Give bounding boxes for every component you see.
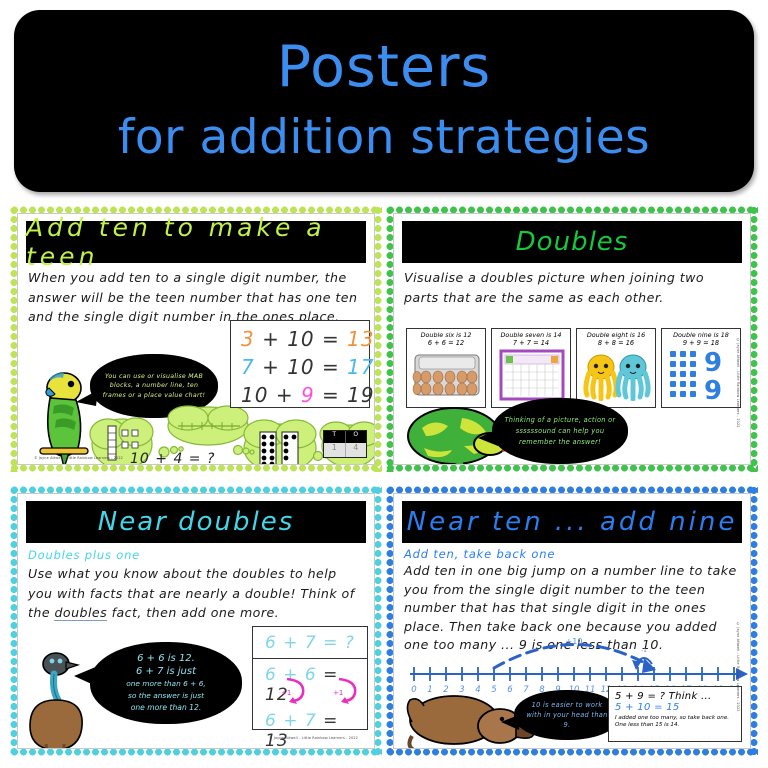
jump-arc-label: +10 (566, 637, 583, 646)
svg-text:+1: +1 (281, 689, 291, 697)
doubles-card[interactable]: Double eight is 16 8 + 8 = 16 (576, 328, 656, 408)
card-caption: Double seven is 14 (494, 331, 568, 339)
eq1-addend: 3 (241, 327, 255, 351)
card-equation: 6 + 6 = 12 (409, 339, 483, 347)
poster-title: Near ten ... add nine (407, 507, 738, 537)
example-line-3: I added one too many, so take back one. (615, 715, 741, 721)
eq2-addend: 7 (241, 355, 255, 379)
equation-row-2: 7 + 10 = 17 (241, 355, 369, 379)
poster-title-bar: Doubles (402, 221, 742, 263)
card-equation: 9 + 9 = 18 (664, 339, 738, 347)
poster-doubles[interactable]: Doubles Visualise a doubles picture when… (386, 206, 758, 472)
card-equation: 8 + 8 = 16 (579, 339, 653, 347)
copyright-notice: © Jayne Attwell - Little Rainbow Learner… (736, 622, 740, 712)
calendar-icon (494, 347, 570, 401)
eq1-result: 13 (347, 327, 374, 351)
doubles-card[interactable]: Double seven is 14 7 + 7 = 14 (491, 328, 571, 408)
svg-text:9: 9 (704, 376, 722, 401)
bubble-line-5: one more than 12. (131, 702, 202, 714)
page-title-line1: Posters (277, 38, 491, 96)
bubble-line-3: one more than 6 + 6, (126, 678, 206, 690)
equation-box-add-ten: 3 + 10 = 13 7 + 10 = 17 10 + 9 = 19 (230, 320, 370, 408)
example-line-2: 5 + 10 = 15 (615, 702, 741, 713)
answer-eq: = (323, 711, 338, 731)
equation-question: 6 + 7 = ? (265, 633, 355, 653)
page-header-banner: Posters for addition strategies (14, 10, 754, 192)
doubles-cards-row: Double six is 12 6 + 6 = 12 (406, 328, 741, 408)
speech-bubble-text: You can use or visualise MAB blocks, a n… (100, 372, 208, 401)
speech-bubble-text: 10 is easier to work with in your head t… (524, 700, 610, 730)
equation-question-row: 6 + 7 = ? (253, 627, 367, 659)
svg-text:+1: +1 (333, 689, 343, 697)
poster-add-ten-to-make-a-teen[interactable]: Add ten to make a teen When you add ten … (10, 206, 382, 472)
speech-bubble-platypus: 10 is easier to work with in your head t… (514, 690, 620, 740)
poster-title: Doubles (516, 227, 629, 257)
speech-bubble-text: Thinking of a picture, action or sssssso… (502, 415, 618, 448)
card-caption: Double nine is 18 (664, 331, 738, 339)
card-equation: 7 + 7 = 14 (494, 339, 568, 347)
equation-row-3: 10 + 9 = 19 (241, 383, 369, 407)
poster-title-bar: Near ten ... add nine (402, 501, 742, 543)
pv-value-tens: 1 (324, 443, 346, 457)
body-part-underlined: doubles (54, 605, 107, 621)
cloud-equation: 10 + 4 = ? (130, 451, 215, 465)
plus-one-arrow-right: +1 (333, 673, 367, 707)
poster-body-text: Visualise a doubles picture when joining… (404, 268, 740, 307)
eq3-addend-a: 10 (241, 383, 268, 407)
poster-title: Near doubles (98, 507, 295, 537)
poster-title-bar: Near doubles (26, 501, 366, 543)
poster-near-doubles[interactable]: Near doubles Doubles plus one Use what y… (10, 486, 382, 756)
speech-bubble-snake: Thinking of a picture, action or sssssso… (492, 398, 628, 464)
nine-dots-and-nines-icon: 9 9 (664, 347, 740, 401)
pv-header-tens: T (324, 431, 346, 443)
copyright-notice: © Jayne Attwell - Little Rainbow Learner… (269, 736, 358, 740)
pv-value-ones: 4 (346, 443, 367, 457)
copyright-notice: © Jayne Attwell - Little Rainbow Learner… (34, 456, 123, 460)
eq3-equals: = (322, 383, 340, 407)
eq3-result: 19 (347, 383, 374, 407)
equation-box-near-doubles: 6 + 7 = ? 6 + 6 = 12 6 + 7 = 13 (252, 626, 368, 730)
poster-collection-page: Posters for addition strategies Add ten … (0, 0, 768, 768)
egg-carton-icon (409, 347, 485, 401)
eq3-addend-b: 9 (301, 383, 315, 407)
answer-left: 6 + 7 (265, 711, 317, 731)
speech-bubble-tail (74, 664, 98, 688)
worked-example-box: 5 + 9 = ? Think ... 5 + 10 = 15 I added … (608, 686, 742, 742)
poster-near-ten-add-nine[interactable]: Near ten ... add nine Add ten, take back… (386, 486, 758, 756)
equation-row-1: 3 + 10 = 13 (241, 327, 369, 351)
page-title-line2: for addition strategies (118, 112, 650, 164)
back-arc-label: -1 (641, 648, 646, 654)
example-line-4: One less than 15 is 14. (615, 722, 741, 728)
plus-one-arrow-left: +1 (281, 673, 315, 707)
equation-answer-row: 6 + 7 = 13 (265, 711, 367, 749)
poster-subtitle: Add ten, take back one (404, 547, 555, 561)
octopus-pair-icon (579, 347, 655, 401)
eq2-result: 17 (347, 355, 374, 379)
poster-title-bar: Add ten to make a teen (26, 221, 366, 263)
bubble-line-4: so the answer is just (128, 690, 204, 702)
answer-right: 13 (265, 731, 289, 749)
speech-bubble-tail (478, 426, 500, 448)
jump-arc-plus-ten (494, 644, 650, 668)
place-value-chart: T O 1 4 (323, 430, 367, 458)
body-part-3: fact, then add one more. (107, 605, 279, 620)
poster-body-text: When you add ten to a single digit numbe… (28, 268, 364, 327)
speech-bubble-emu: 6 + 6 is 12. 6 + 7 is just one more than… (90, 642, 242, 724)
poster-title: Add ten to make a teen (26, 213, 366, 271)
card-caption: Double eight is 16 (579, 331, 653, 339)
eq1-operator: + 10 = (262, 327, 340, 351)
bubble-line-2: 6 + 7 is just (136, 665, 196, 678)
card-caption: Double six is 12 (409, 331, 483, 339)
pv-header-ones: O (346, 431, 367, 443)
eq2-operator: + 10 = (262, 355, 340, 379)
doubles-card[interactable]: Double six is 12 6 + 6 = 12 (406, 328, 486, 408)
copyright-notice: © Jayne Attwell - Little Rainbow Learner… (736, 338, 740, 428)
svg-text:9: 9 (704, 348, 722, 378)
example-line-1: 5 + 9 = ? Think ... (615, 691, 741, 702)
speech-bubble-tail (501, 712, 521, 732)
doubles-card[interactable]: Double nine is 18 9 + 9 = 18 9 9 (661, 328, 741, 408)
poster-subtitle: Doubles plus one (28, 548, 140, 562)
poster-body-text: Use what you know about the doubles to h… (28, 564, 364, 623)
bubble-line-1: 6 + 6 is 12. (137, 652, 195, 665)
eq3-operator: + (276, 383, 294, 407)
